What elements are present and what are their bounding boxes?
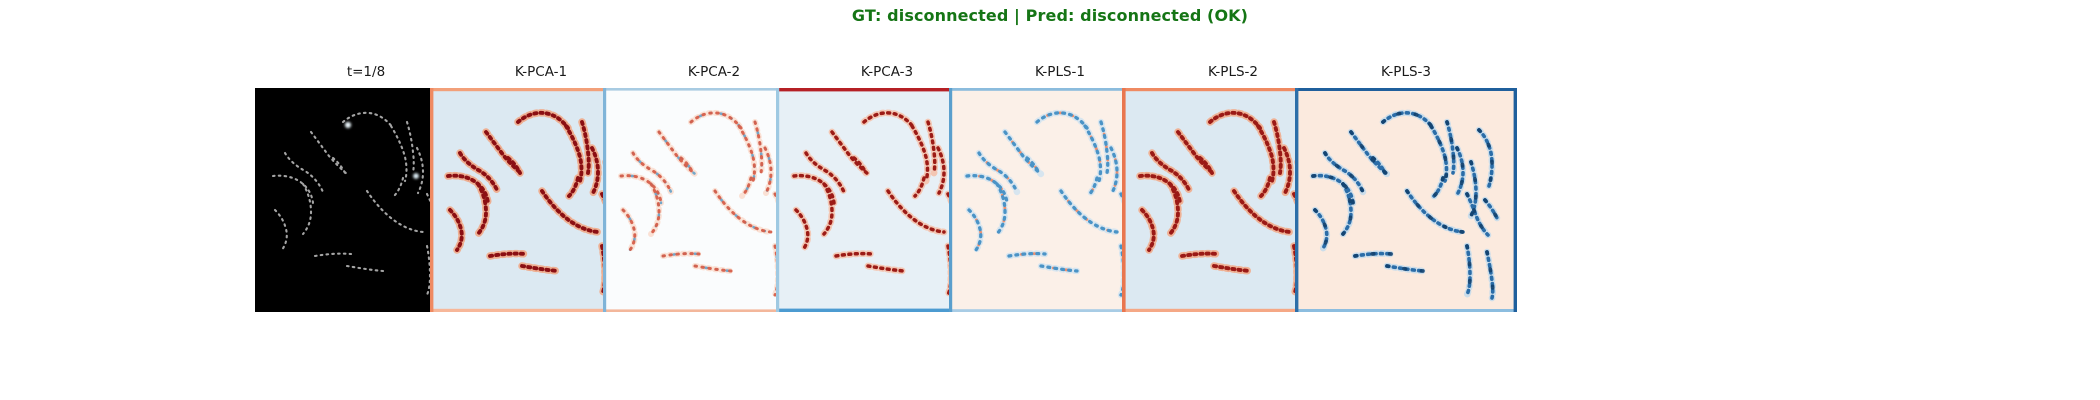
figure-root: GT: disconnected | Pred: disconnected (O… xyxy=(0,0,2100,400)
panel-border-left-3 xyxy=(776,88,779,312)
panel-border-right-6 xyxy=(1514,88,1517,312)
bright-node-a xyxy=(345,122,351,128)
panel-border-left-1 xyxy=(430,88,433,312)
bright-node-b xyxy=(413,173,419,179)
panel-border-bottom-6 xyxy=(1295,309,1517,312)
panel-border-top-6 xyxy=(1295,88,1517,91)
figure-suptitle: GT: disconnected | Pred: disconnected (O… xyxy=(0,6,2100,25)
panel-border-left-5 xyxy=(1122,88,1126,312)
panel-kpls-3[interactable]: K-PLS-3 xyxy=(1295,88,1517,312)
panel-border-left-2 xyxy=(603,88,606,312)
panel-border-left-4 xyxy=(949,88,952,312)
panel-border-left-6 xyxy=(1295,88,1298,312)
panel-title-6: K-PLS-3 xyxy=(1295,64,1517,80)
panel-canvas-6 xyxy=(1295,88,1517,312)
panel-body-6[interactable] xyxy=(1295,88,1517,312)
